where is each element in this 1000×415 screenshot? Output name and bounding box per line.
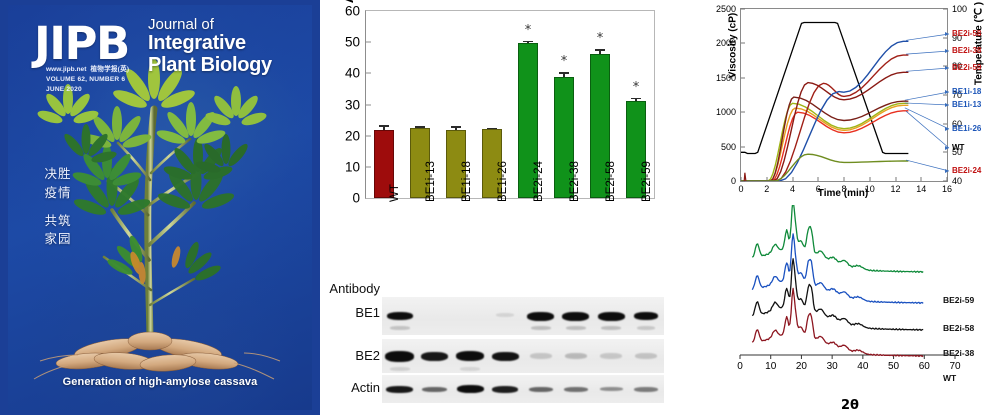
error-bar-cap (559, 72, 569, 74)
rva-ytick-label: 1000 (716, 107, 741, 117)
blot-band (492, 386, 518, 393)
rva-legend-be2i-59: BE2i-59 (952, 63, 981, 72)
blot-row-actin (382, 375, 664, 403)
journal-title-line2: Integrative (148, 33, 272, 55)
blot-band (460, 367, 480, 371)
bar-xtick-label: BE2i-24 (533, 161, 545, 202)
blot-band (529, 387, 553, 392)
cover-slogan-line1: 决胜疫情 (44, 166, 71, 200)
blot-band (496, 313, 514, 317)
figure-composite: JIPB Journal of Integrative Plant Biolog… (0, 0, 1000, 415)
bar-ytick-label: 30 (345, 97, 366, 112)
cover-inner: JIPB Journal of Integrative Plant Biolog… (8, 5, 312, 410)
journal-volume: VOLUME 62, NUMBER 6 (46, 75, 129, 85)
rva-viscosity-chart: Viscosity (cP) Temperature (℃ ) 05001000… (700, 0, 1000, 205)
significance-marker: * (561, 54, 568, 69)
blot-band (637, 326, 655, 330)
bar-ytick-mark (366, 135, 371, 136)
blot-band (492, 352, 519, 361)
cover-slogan-line2: 共筑家园 (44, 213, 71, 247)
blot-band (390, 326, 410, 330)
rva-ytick-label: 2500 (716, 4, 741, 14)
bar-ytick-label: 60 (345, 4, 366, 19)
bar-xtick-label: BE2i-59 (641, 161, 653, 202)
bar-xtick-label: BE2i-58 (605, 161, 617, 202)
rva-legend-wt: WT (952, 143, 964, 152)
error-bar-cap (595, 49, 605, 51)
amylose-bar-chart: Amylose content (%) 0102030405060WTBE1i-… (320, 0, 700, 275)
blot-band (600, 387, 623, 391)
rva-legend-be2i-24: BE2i-24 (952, 166, 981, 175)
bar-xtick-label: BE1i-13 (425, 161, 437, 202)
xrd-plot-area: 010203040506070BE2i-59BE2i-58BE2i-38WT (700, 205, 1000, 415)
blot-row-label-be2: BE2 (314, 348, 380, 363)
error-bar-cap (379, 125, 389, 127)
blot-row-label-be1: BE1 (314, 305, 380, 320)
rva-legend-be1i-13: BE1i-13 (952, 100, 981, 109)
blot-band (457, 385, 484, 393)
error-bar-cap (631, 98, 641, 100)
blot-band (634, 387, 658, 392)
cover-caption: Generation of high-amylose cassava (8, 376, 312, 388)
bar-ytick-label: 0 (352, 191, 366, 206)
blot-band (387, 312, 413, 320)
rva-curves (741, 9, 947, 181)
rva-legend-be2i-58: BE2i-58 (952, 29, 981, 38)
journal-logo: JIPB (34, 21, 129, 66)
rva-legend-be1i-26: BE1i-26 (952, 124, 981, 133)
bar-ytick-label: 40 (345, 66, 366, 81)
blot-row-be2 (382, 339, 664, 373)
rva-plot-area: 0500100015002000250040506070809010002468… (740, 8, 948, 182)
blot-band (531, 326, 551, 330)
significance-marker: * (597, 31, 604, 46)
bar-ytick-mark (366, 104, 371, 105)
blot-band (390, 367, 410, 371)
bar-ytick-mark (366, 73, 371, 74)
blot-band (598, 312, 625, 321)
rva-legend-be2i-38: BE2i-38 (952, 46, 981, 55)
blot-band (565, 353, 587, 359)
bar-ytick-label: 20 (345, 128, 366, 143)
significance-marker: * (525, 23, 532, 38)
bar-xtick-label: BE2i-38 (569, 161, 581, 202)
rva-ytick-label: 2000 (716, 38, 741, 48)
journal-title-line3: Plant Biology (148, 55, 272, 77)
significance-marker: * (633, 80, 640, 95)
rva-y2tick-label: 100 (947, 4, 967, 14)
journal-date: JUNE 2020 (46, 85, 129, 95)
journal-cover: JIPB Journal of Integrative Plant Biolog… (0, 0, 320, 415)
bar-xtick-label: WT (389, 184, 401, 202)
blot-band (530, 353, 552, 359)
rva-ytick-label: 1500 (716, 73, 741, 83)
blot-band (564, 387, 588, 392)
blot-band (422, 387, 447, 392)
bar-ylabel-wrap: Amylose content (%) (322, 10, 342, 200)
bar-ytick-label: 50 (345, 35, 366, 50)
blot-row-be1 (382, 297, 664, 335)
error-bar-cap (415, 126, 425, 128)
blot-band (566, 326, 586, 330)
blot-band (385, 351, 414, 362)
bar-xtick-label: BE1i-18 (461, 161, 473, 202)
xrd-curves (700, 205, 1000, 415)
blot-band (600, 353, 622, 359)
rva-ytick-label: 500 (721, 142, 741, 152)
rva-xlabel: Time (min) (740, 188, 946, 199)
blot-band (456, 351, 484, 361)
journal-title: Journal of Integrative Plant Biology (148, 17, 272, 76)
blot-band (386, 386, 413, 393)
blot-band (562, 312, 589, 321)
xrd-chart: 010203040506070BE2i-59BE2i-58BE2i-38WT 2… (700, 205, 1000, 415)
bar-xtick-label: BE1i-26 (497, 161, 509, 202)
error-bar-cap (523, 41, 533, 43)
blot-band (527, 312, 554, 321)
bar-ytick-mark (366, 166, 371, 167)
blot-band (601, 326, 621, 330)
blot-band (421, 352, 448, 361)
error-bar-cap (451, 126, 461, 128)
journal-cn-subtitle: 植物学报(英) (91, 66, 130, 73)
cover-slogan: 决胜疫情 共筑家园 (38, 165, 78, 249)
blot-band (635, 353, 657, 359)
blot-row-label-actin: Actin (314, 380, 380, 395)
blot-band (634, 312, 658, 320)
blot-antibody-label: Antibody (314, 281, 380, 296)
journal-meta: www.jipb.net 植物学报(英) VOLUME 62, NUMBER 6… (46, 65, 129, 95)
bar-ytick-mark (366, 42, 371, 43)
bar-plot-area: 0102030405060WTBE1i-13BE1i-18BE1i-26*BE2… (365, 10, 655, 199)
rva-ylabel: Viscosity (cP) (728, 0, 739, 101)
rva-legend-be1i-18: BE1i-18 (952, 87, 981, 96)
journal-website: www.jipb.net (46, 66, 86, 73)
western-blot-panel: Antibody BE1 BE2 Actin (320, 275, 700, 415)
journal-title-line1: Journal of (148, 17, 272, 33)
bar-ytick-label: 10 (345, 159, 366, 174)
xrd-xlabel: 2θ (700, 398, 1000, 413)
error-bar-cap (487, 128, 497, 130)
